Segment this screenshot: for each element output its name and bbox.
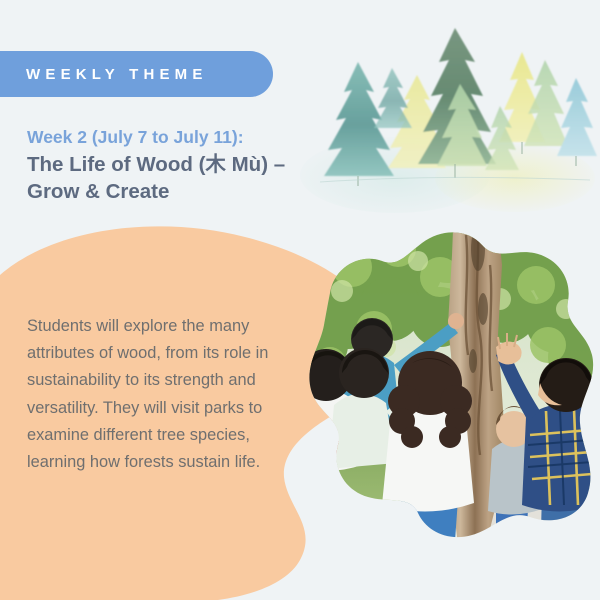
heading-block: Week 2 (July 7 to July 11): The Life of … <box>27 124 357 205</box>
page-title-line-2: Grow & Create <box>27 180 169 203</box>
page-title: The Life of Wood (木 Mù) – Grow & Create <box>27 151 357 205</box>
weekly-theme-badge-label: WEEKLY THEME <box>0 66 208 83</box>
theme-description-paragraph: Students will explore the many attribute… <box>27 313 289 476</box>
week-range-eyebrow: Week 2 (July 7 to July 11): <box>27 124 357 150</box>
page-title-line-1: The Life of Wood (木 Mù) – <box>27 153 285 176</box>
weekly-theme-slide: WEEKLY THEME Week 2 (July 7 to July 11):… <box>0 0 600 600</box>
children-touching-tree-trunk-photo <box>290 205 600 565</box>
weekly-theme-badge: WEEKLY THEME <box>0 51 273 97</box>
